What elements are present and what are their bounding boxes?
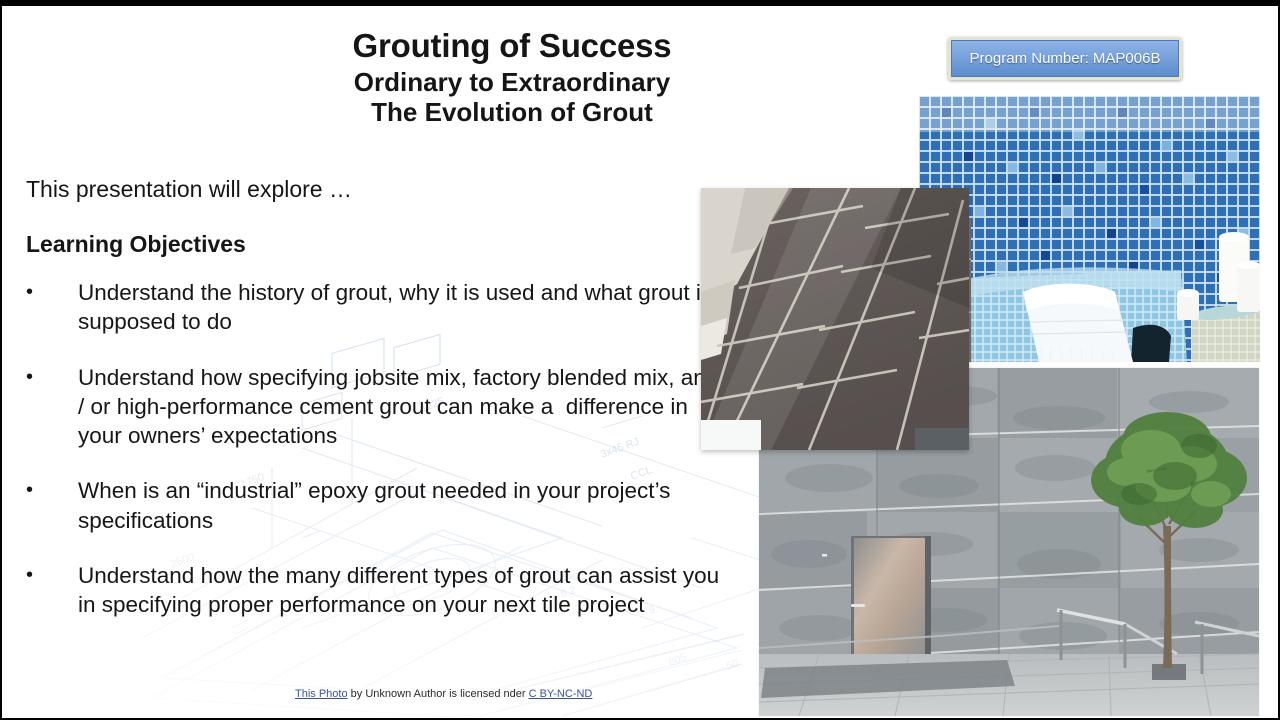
bullet-marker-icon: • xyxy=(26,476,78,503)
list-item: • Understand how the many different type… xyxy=(26,561,726,620)
list-item-text: Understand how the many different types … xyxy=(78,561,726,620)
license-link[interactable]: C BY-NC-ND xyxy=(529,688,593,700)
page-title: Grouting of Success xyxy=(182,28,842,65)
list-item: • Understand how specifying jobsite mix,… xyxy=(26,363,726,451)
list-item-text: When is an “industrial” epoxy grout need… xyxy=(78,476,726,535)
bullet-marker-icon: • xyxy=(26,278,78,305)
blue-mosaic-tile-photo xyxy=(919,96,1260,362)
slide-title-block: Grouting of Success Ordinary to Extraord… xyxy=(182,28,842,127)
learning-objectives-list: • Understand the history of grout, why i… xyxy=(26,278,726,645)
photo-credit: This Photo by Unknown Author is licensed… xyxy=(295,688,592,700)
list-item-text: Understand how specifying jobsite mix, f… xyxy=(78,363,726,451)
bullet-marker-icon: • xyxy=(26,561,78,588)
page-subtitle-2: The Evolution of Grout xyxy=(182,97,842,127)
list-item: • When is an “industrial” epoxy grout ne… xyxy=(26,476,726,535)
slide-frame: 1225 3x45 RJ CCL 2600 8.2 9 805 50 1750 … xyxy=(0,0,1280,720)
learning-objectives-heading: Learning Objectives xyxy=(26,231,246,258)
photo-credit-middle-text: by Unknown Author is licensed nder xyxy=(348,688,529,700)
svg-text:50: 50 xyxy=(725,657,741,672)
svg-text:805: 805 xyxy=(667,651,688,669)
program-number-label: Program Number: MAP006B xyxy=(970,50,1161,67)
this-photo-link[interactable]: This Photo xyxy=(295,688,348,700)
slide-canvas: 1225 3x45 RJ CCL 2600 8.2 9 805 50 1750 … xyxy=(2,6,1278,718)
program-number-badge: Program Number: MAP006B xyxy=(948,37,1182,80)
dark-tile-floor-photo xyxy=(701,188,969,450)
bullet-marker-icon: • xyxy=(26,363,78,390)
page-subtitle-1: Ordinary to Extraordinary xyxy=(182,67,842,97)
list-item-text: Understand the history of grout, why it … xyxy=(78,278,726,337)
intro-line: This presentation will explore … xyxy=(26,176,352,203)
list-item: • Understand the history of grout, why i… xyxy=(26,278,726,337)
